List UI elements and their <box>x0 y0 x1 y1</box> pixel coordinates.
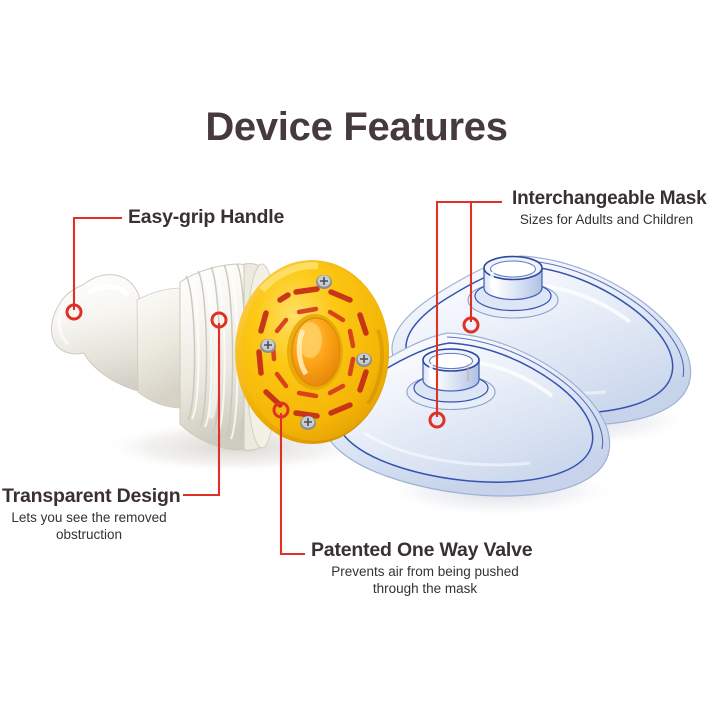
infographic-canvas: Device Features Easy-grip Handle Interch… <box>0 0 713 713</box>
callout-heading-transparent-design: Transparent Design <box>2 485 180 508</box>
callout-subtext-transparent-design: Lets you see the removed obstruction <box>0 509 178 544</box>
callout-subtext-patented-one-way-valve: Prevents air from being pushed through t… <box>308 563 542 598</box>
callout-heading-easy-grip-handle: Easy-grip Handle <box>128 206 284 229</box>
page-title: Device Features <box>0 105 713 150</box>
device-body <box>51 260 389 450</box>
callout-subtext-interchangeable-mask: Sizes for Adults and Children <box>500 211 713 228</box>
callout-heading-interchangeable-mask: Interchangeable Mask <box>512 188 707 210</box>
callout-heading-patented-one-way-valve: Patented One Way Valve <box>311 539 532 562</box>
